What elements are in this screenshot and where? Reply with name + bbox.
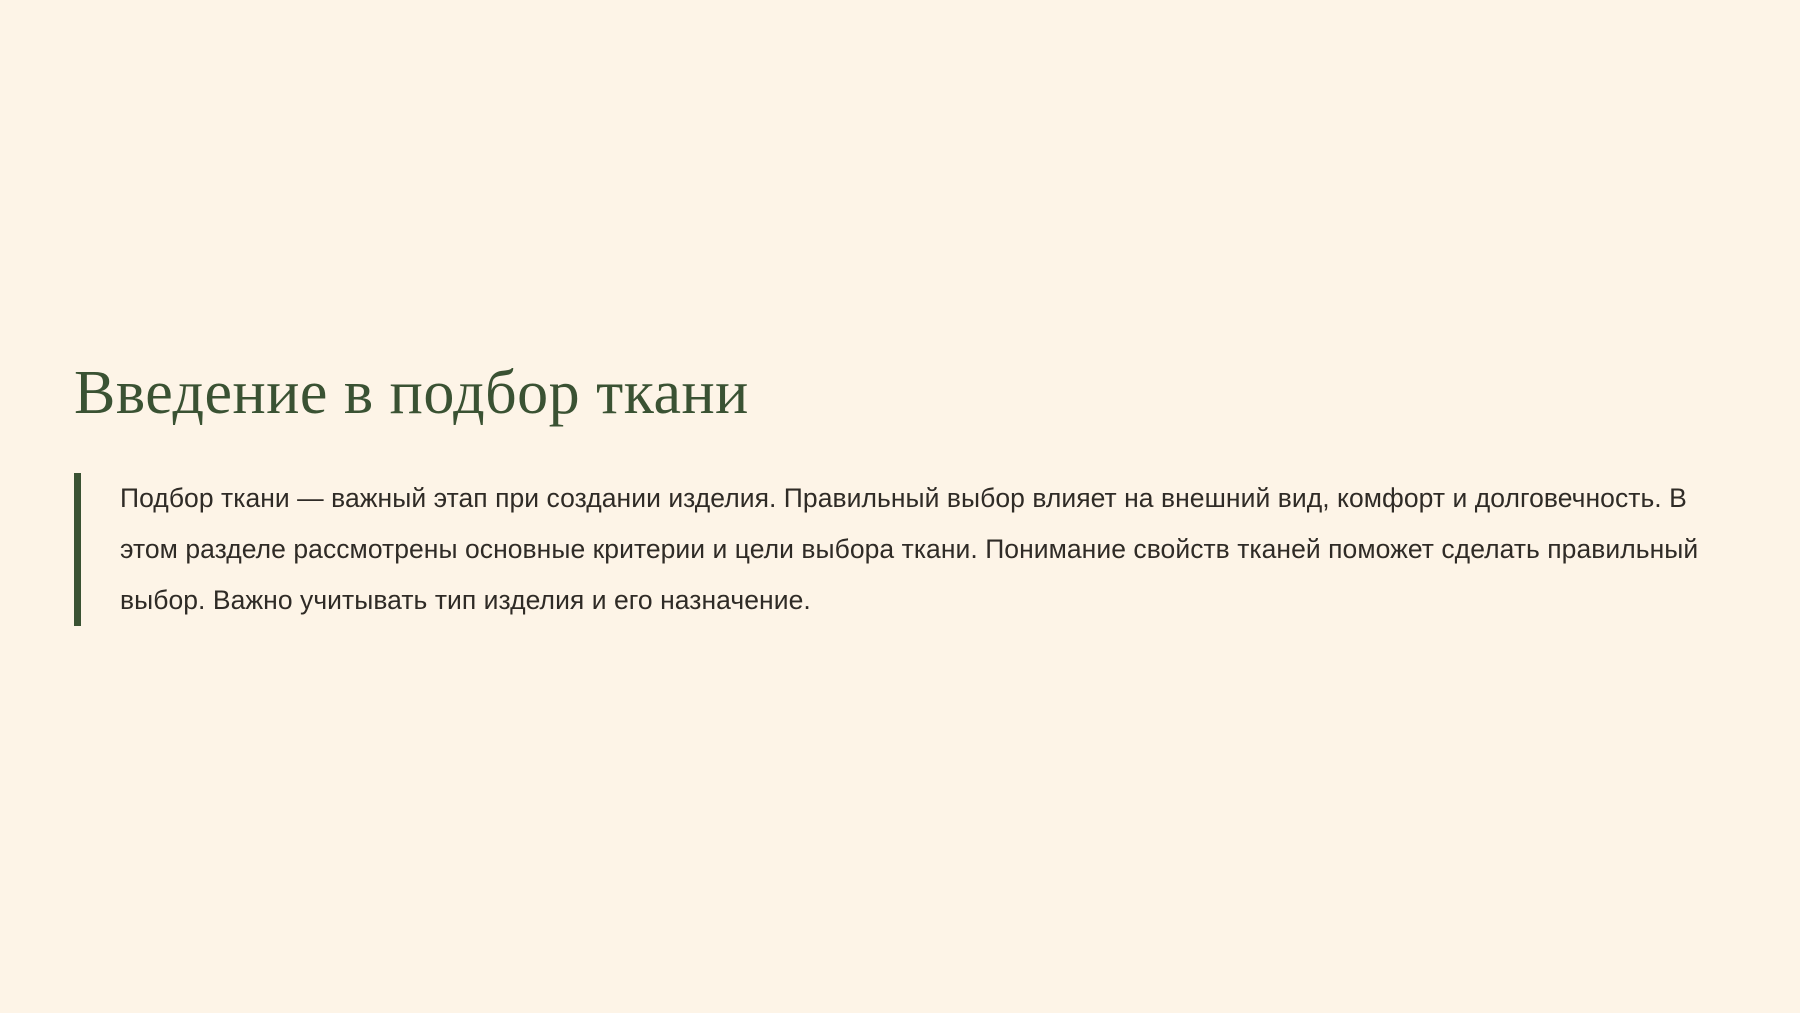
callout-paragraph: Подбор ткани — важный этап при создании …: [120, 473, 1700, 626]
callout-accent-bar: [74, 473, 81, 626]
page-title: Введение в подбор ткани: [74, 360, 1714, 427]
section-content: Введение в подбор ткани Подбор ткани — в…: [74, 360, 1714, 626]
callout-block: Подбор ткани — важный этап при создании …: [74, 473, 1714, 626]
page-root: Введение в подбор ткани Подбор ткани — в…: [0, 0, 1800, 1013]
